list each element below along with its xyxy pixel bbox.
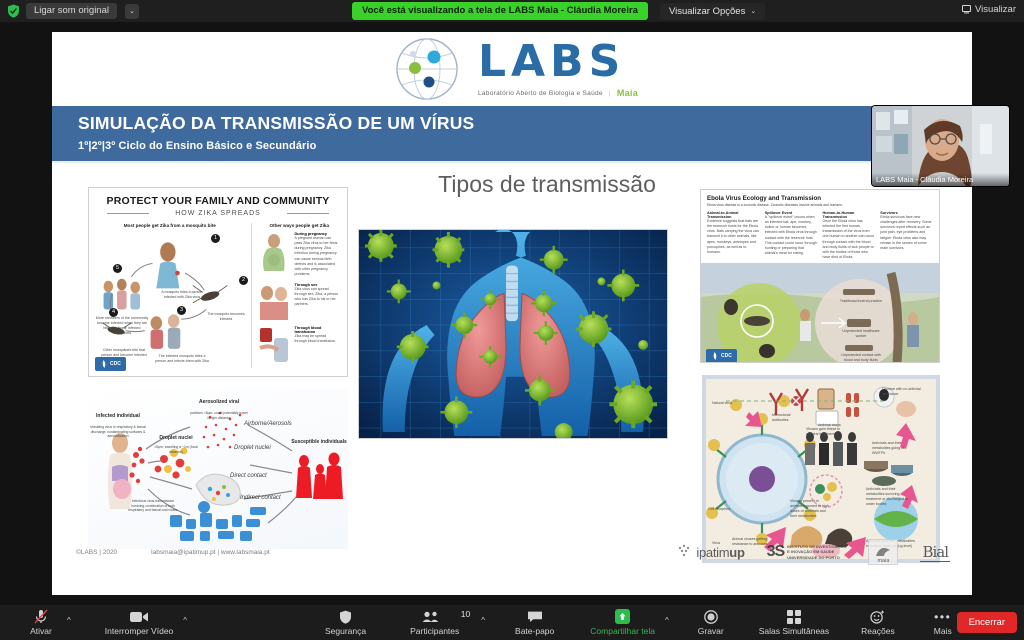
monitor-icon <box>962 5 971 14</box>
chat-button[interactable]: Bate-papo <box>508 610 561 636</box>
video-chevron-up-icon[interactable]: ^ <box>180 616 190 625</box>
virus-infected-lungs-illustration <box>358 229 668 439</box>
resist-label-6: Antivirals and their metabolites survivi… <box>866 487 914 508</box>
security-button[interactable]: Segurança <box>318 610 373 636</box>
slide-heading: Tipos de transmissão <box>362 171 732 198</box>
participants-label: Participantes <box>410 626 459 636</box>
labs-divider: | <box>609 90 611 97</box>
resist-label-2: Monoclonal antibodies <box>772 413 806 423</box>
record-button[interactable]: Gravar <box>688 610 734 636</box>
ebola-title: Ebola Virus Ecology and Transmission <box>707 195 933 202</box>
labs-city: Maia <box>617 88 638 98</box>
ebola-inner-label-1: Traditional funeral practice <box>839 299 883 304</box>
grid-squares-icon <box>787 610 801 624</box>
ebola-col-text-2: A "spillover event" occurs when an infec… <box>765 215 818 257</box>
zika-other-way-2: Through sex Zika virus can spread throug… <box>256 283 343 321</box>
security-shield-icon <box>7 4 20 18</box>
routes-route-4: Indirect contact <box>240 495 281 501</box>
participants-button[interactable]: Participantes 10 <box>403 610 466 636</box>
maia-logo: maia <box>868 539 898 565</box>
zika-caption-2: The mosquito becomes infected <box>205 312 247 322</box>
view-label: Visualizar <box>975 4 1016 15</box>
zika-other-way-1: During pregnancy A pregnant woman can pa… <box>256 232 343 278</box>
shared-screen-stage: LABS Laboratório Aberto de Biologia e Sa… <box>0 22 1024 605</box>
slide-title-band: SIMULAÇÃO DA TRANSMISSÃO DE UM VÍRUS 1º|… <box>52 106 972 163</box>
labs-logo: LABS Laboratório Aberto de Biologia e Sa… <box>52 32 972 106</box>
resist-label-1: Natural virus <box>712 401 746 406</box>
shield-icon <box>339 610 352 624</box>
ellipsis-icon: ••• <box>934 610 951 624</box>
zika-subtitle: HOW ZIKA SPREADS <box>89 210 347 217</box>
cdc-label: CDC <box>110 361 121 367</box>
ipatimup-logo: ipatimup <box>677 544 744 560</box>
ebola-inner-label-3: Unprotected contact with blood and body … <box>837 353 885 363</box>
security-label: Segurança <box>325 626 366 636</box>
video-label: Interromper Vídeo <box>105 626 174 636</box>
zika-title: PROTECT YOUR FAMILY AND COMMUNITY <box>89 195 347 207</box>
footer-contact: labsmaia@ipatimup.pt | www.labsmaia.pt <box>151 549 269 556</box>
ebola-col-text-4: Ebola survivors face new challenges afte… <box>880 215 933 251</box>
cdc-logo: CDC <box>706 349 737 363</box>
i3s-mark: 3S <box>767 543 785 561</box>
zika-other-way-3: Through blood transfusion Zika may be sp… <box>256 326 343 364</box>
reactions-button[interactable]: Reações <box>854 610 902 636</box>
routes-route-3: Direct contact <box>230 473 267 479</box>
zika-caption-3: The infected mosquito bites a person and… <box>155 354 209 364</box>
end-meeting-button[interactable]: Encerrar <box>957 612 1017 633</box>
resist-label-5: Antivirals and their metabolites going t… <box>872 441 914 457</box>
routes-source-label: Infected individual <box>92 413 144 420</box>
slide-footer: ©LABS | 2020 labsmaia@ipatimup.pt | www.… <box>52 535 972 595</box>
routes-droplet-title: Droplet nuclei <box>150 435 202 442</box>
zika-step-5: 5 <box>113 264 122 273</box>
labs-wordmark: LABS <box>478 40 638 84</box>
zika-step-3: 3 <box>177 306 186 315</box>
participants-chevron-up-icon[interactable]: ^ <box>478 616 488 625</box>
people-icon <box>422 610 448 624</box>
share-screen-button[interactable]: Compartilhar tela <box>583 610 662 636</box>
zika-other-text-1: A pregnant woman can pass Zika virus to … <box>295 236 339 278</box>
share-chevron-up-icon[interactable]: ^ <box>662 616 672 625</box>
smiley-icon <box>870 610 885 624</box>
microphone-muted-icon <box>34 610 48 624</box>
view-options-label: Visualizar Opções <box>669 6 745 17</box>
bial-logo: Bial <box>920 543 950 562</box>
routes-source-text: shedding virus in respiratory & faecal d… <box>90 425 146 439</box>
zoom-meeting-window: Ligar som original ⌄ Você está visualiza… <box>0 0 1024 640</box>
reactions-label: Reações <box>861 626 895 636</box>
labs-network-icon <box>386 37 468 101</box>
ebola-col-text-1: Evidence suggests that bats are the rese… <box>707 219 760 255</box>
zika-other-text-2: Zika virus can spread through sex, Zika,… <box>295 287 339 308</box>
view-button[interactable]: Visualizar <box>962 4 1016 15</box>
mute-label: Ativar <box>30 626 52 636</box>
ebola-col-text-3: Once the Ebola virus has infected the fi… <box>823 219 876 261</box>
protect-your-family-zika-infographic: PROTECT YOUR FAMILY AND COMMUNITY HOW ZI… <box>88 187 348 377</box>
ipatimup-text-light: ipatim <box>696 545 729 560</box>
zika-caption-5: More members of the community become inf… <box>95 316 149 337</box>
slide-subtitle: 1º|2º|3º Ciclo do Ensino Básico e Secund… <box>78 140 946 152</box>
zika-other-title-3: Through blood transfusion <box>295 326 339 334</box>
slide-body: Tipos de transmissão PROTECT YOUR FAMILY… <box>52 163 972 563</box>
share-up-arrow-icon <box>615 610 630 624</box>
i3s-logo: 3S INSTITUTO DE INVESTIGAÇÃO E INOVAÇÃO … <box>767 543 847 561</box>
resist-label-9: Viruses present in animals exposed to hi… <box>790 499 832 520</box>
resist-label-4: Disease with no antiviral resistance <box>882 387 922 397</box>
participants-count: 10 <box>461 609 470 619</box>
record-circle-icon <box>704 610 718 624</box>
cdc-label: CDC <box>721 353 732 359</box>
mute-button[interactable]: Ativar <box>18 610 64 636</box>
zika-step-2: 2 <box>239 276 248 285</box>
original-sound-chevron-down-icon[interactable]: ⌄ <box>125 4 139 19</box>
share-screen-label: Compartilhar tela <box>590 626 655 636</box>
labs-tagline: Laboratório Aberto de Biologia e Saúde <box>478 90 603 97</box>
i3s-line3: UNIVERSIDADE DO PORTO <box>787 555 846 560</box>
zika-right-heading: Other ways people get Zika <box>256 223 343 228</box>
ebola-col-heading-1: Animal-to-Animal Transmission <box>707 211 760 219</box>
video-button[interactable]: Interromper Vídeo <box>98 610 181 636</box>
routes-aerosol-text: particles <5µm, could potentially travel… <box>186 411 252 421</box>
ebola-subtitle: Ebola virus disease is a zoonotic diseas… <box>707 203 933 207</box>
chevron-down-icon: ⌄ <box>750 7 756 15</box>
zika-other-text-3: Zika may be spread through blood transfu… <box>295 334 339 344</box>
zoom-top-bar: Ligar som original ⌄ Você está visualiza… <box>0 0 1024 22</box>
slide-title: SIMULAÇÃO DA TRANSMISSÃO DE UM VÍRUS <box>78 113 946 135</box>
camera-icon <box>130 610 148 624</box>
routes-route-1: Airborne/Aerosols <box>244 421 292 427</box>
zika-caption-1: A mosquito bites a person infected with … <box>161 290 203 300</box>
mute-chevron-up-icon[interactable]: ^ <box>64 616 74 625</box>
ipatimup-text-bold: up <box>729 545 744 560</box>
more-label: Mais <box>934 626 952 636</box>
routes-aerosol-title: Aerosolized viral <box>184 399 254 406</box>
record-label: Gravar <box>698 626 724 636</box>
resist-label-10: Viruses gain threat to antiviral treatme… <box>806 427 848 437</box>
breakout-rooms-button[interactable]: Salas Simultâneas <box>752 610 836 636</box>
self-video-name-label: LABS Maia - Cláudia Moreira <box>872 173 1009 186</box>
cdc-logo: CDC <box>95 357 126 371</box>
chat-bubble-icon <box>527 610 543 624</box>
zoom-bottom-toolbar: Ativar ^ Interromper Vídeo ^ <box>0 605 1024 640</box>
footer-copyright: ©LABS | 2020 <box>76 549 117 556</box>
view-options-button[interactable]: Visualizar Opções ⌄ <box>660 3 765 20</box>
zika-step-1: 1 <box>211 234 220 243</box>
transmission-routes-diagram: Infected individual shedding virus in re… <box>88 389 348 549</box>
ebola-col-heading-3: Human-to-Human Transmission <box>823 211 876 219</box>
routes-droplet-text: >5µm, travelling a ~1m (local distance) <box>148 445 204 455</box>
maia-text: maia <box>877 558 889 564</box>
breakout-rooms-label: Salas Simultâneas <box>759 626 829 636</box>
routes-target-label: Susceptible individuals <box>290 439 348 446</box>
routes-note: Infectious virus transmission involving … <box>126 499 180 513</box>
routes-route-2: Droplet nuclei <box>234 445 271 451</box>
resist-label-11: Cell receptors <box>708 507 738 512</box>
ebola-inner-label-2: Unprotected healthcare worker <box>839 329 883 339</box>
ebola-virus-ecology-transmission-infographic: Ebola Virus Ecology and Transmission Ebo… <box>700 189 940 363</box>
presentation-slide: LABS Laboratório Aberto de Biologia e Sa… <box>52 32 972 595</box>
original-sound-button[interactable]: Ligar som original <box>26 3 117 19</box>
self-video-thumbnail[interactable]: LABS Maia - Cláudia Moreira <box>872 106 1009 186</box>
screen-share-status-banner: Você está visualizando a tela de LABS Ma… <box>352 2 648 20</box>
chat-label: Bate-papo <box>515 626 554 636</box>
